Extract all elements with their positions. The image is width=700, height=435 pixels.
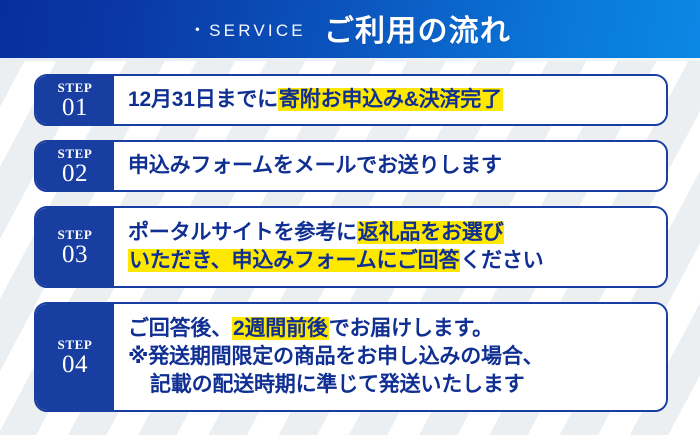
service-flow-infographic: ・SERVICE ご利用の流れ STEP 01 12月31日までに寄附お申込み&…	[0, 0, 700, 435]
step-row: STEP 04 ご回答後、2週間前後でお届けします。 ※発送期間限定の商品をお申…	[34, 302, 668, 412]
step-badge-04: STEP 04	[36, 304, 114, 410]
header-underline-divider	[0, 58, 700, 61]
plain-text: 12月31日までに	[128, 88, 278, 111]
plain-text: ください	[460, 249, 543, 272]
highlighted-text: 2週間前後	[232, 317, 329, 340]
step-number-label: 04	[62, 352, 88, 377]
step-number-label: 03	[62, 242, 88, 267]
step-text-line: 12月31日までに寄附お申込み&決済完了	[128, 86, 656, 114]
step-content-02: 申込みフォームをメールでお送りします	[114, 142, 666, 190]
plain-text: でお届けします。	[329, 317, 493, 340]
step-badge-01: STEP 01	[36, 76, 114, 124]
step-word-label: STEP	[58, 147, 93, 160]
step-text-line: いただき、申込みフォームにご回答ください	[128, 247, 656, 275]
step-text-line: ご回答後、2週間前後でお届けします。	[128, 315, 656, 343]
header-banner: ・SERVICE ご利用の流れ	[0, 0, 700, 58]
plain-text: ポータルサイトを参考に	[128, 221, 357, 244]
highlighted-text: 返礼品をお選び	[357, 221, 505, 244]
header-inner: ・SERVICE ご利用の流れ	[189, 6, 511, 50]
step-row: STEP 02 申込みフォームをメールでお送りします	[34, 140, 668, 192]
step-badge-03: STEP 03	[36, 208, 114, 286]
step-text-line: ※発送期間限定の商品をお申し込みの場合、	[128, 343, 656, 371]
highlighted-text: 寄附お申込み&決済完了	[278, 88, 503, 111]
step-text-line: ポータルサイトを参考に返礼品をお選び	[128, 219, 656, 247]
plain-text: 申込みフォームをメールでお送りします	[128, 154, 502, 177]
step-number-label: 01	[62, 95, 88, 120]
step-list: STEP 01 12月31日までに寄附お申込み&決済完了 STEP 02 申込み…	[34, 74, 668, 412]
step-word-label: STEP	[58, 228, 93, 241]
step-badge-02: STEP 02	[36, 142, 114, 190]
page-title: ご利用の流れ	[324, 6, 511, 50]
plain-text: ※発送期間限定の商品をお申し込みの場合、	[128, 345, 543, 368]
step-number-label: 02	[62, 161, 88, 186]
step-word-label: STEP	[58, 81, 93, 94]
step-text-line: 申込みフォームをメールでお送りします	[128, 152, 656, 180]
step-row: STEP 01 12月31日までに寄附お申込み&決済完了	[34, 74, 668, 126]
highlighted-text: いただき、申込みフォームにご回答	[128, 249, 460, 272]
step-row: STEP 03 ポータルサイトを参考に返礼品をお選び いただき、申込みフォームに…	[34, 206, 668, 288]
step-word-label: STEP	[58, 338, 93, 351]
step-text-line: 記載の配送時期に準じて発送いたします	[128, 371, 656, 399]
plain-text: 記載の配送時期に準じて発送いたします	[150, 373, 524, 396]
header-eyebrow-label: ・SERVICE	[189, 16, 306, 41]
step-content-04: ご回答後、2週間前後でお届けします。 ※発送期間限定の商品をお申し込みの場合、 …	[114, 304, 666, 410]
plain-text: ご回答後、	[128, 317, 232, 340]
step-content-03: ポータルサイトを参考に返礼品をお選び いただき、申込みフォームにご回答ください	[114, 208, 666, 286]
step-content-01: 12月31日までに寄附お申込み&決済完了	[114, 76, 666, 124]
